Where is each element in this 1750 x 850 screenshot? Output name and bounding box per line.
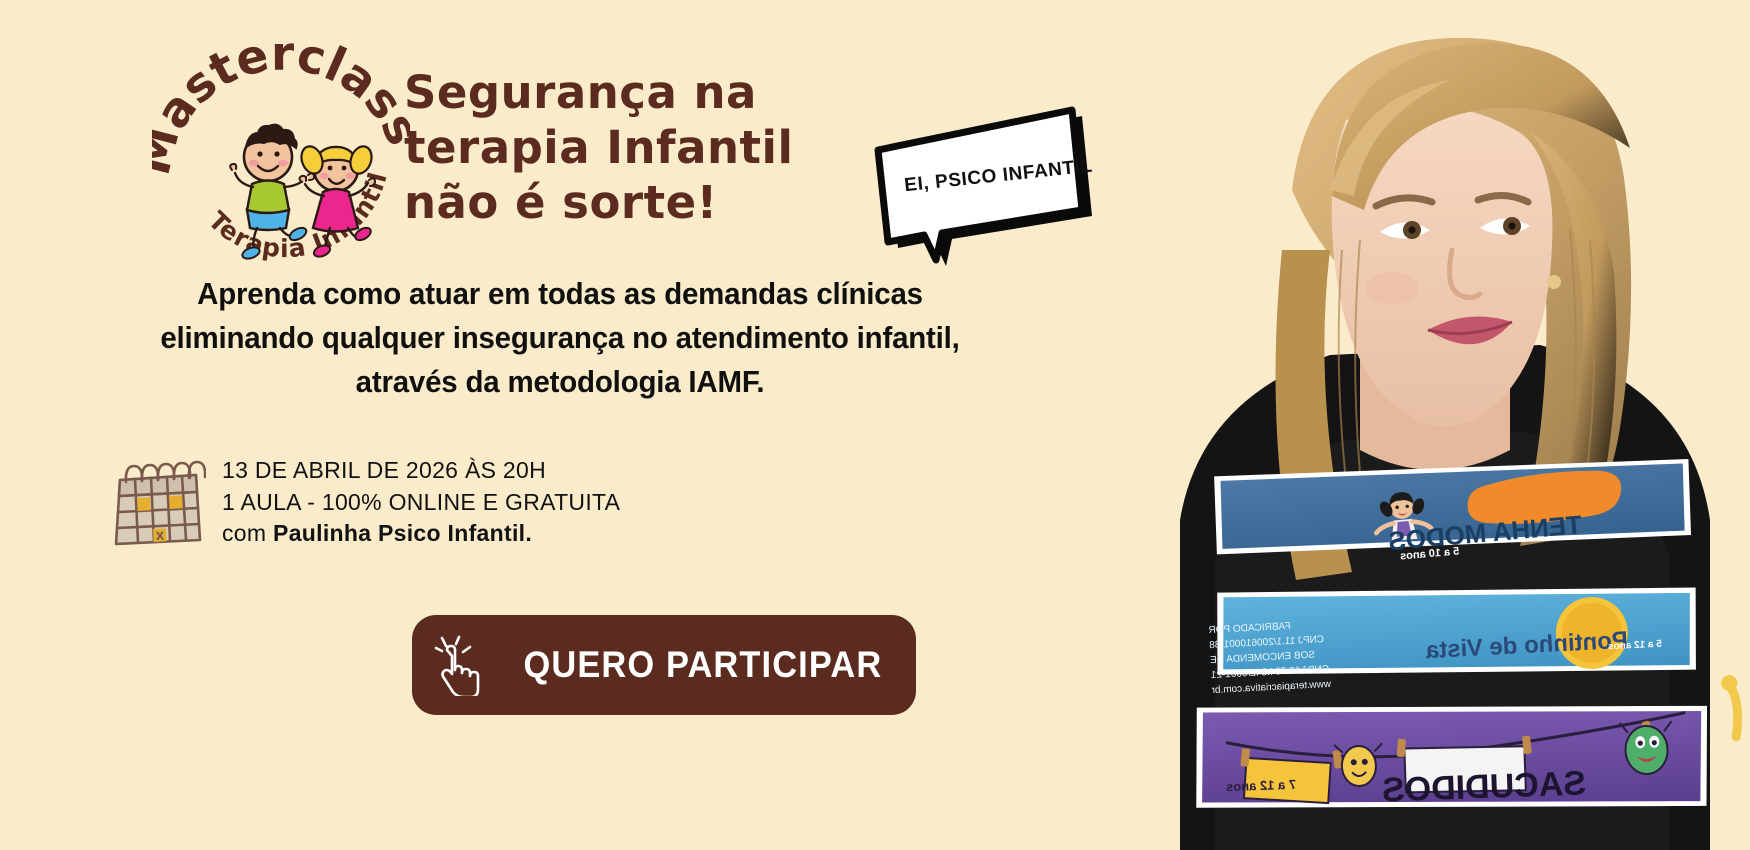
calendar-icon: X <box>108 456 206 548</box>
headline-line-3: não é sorte! <box>404 176 874 231</box>
svg-text:X: X <box>155 530 165 543</box>
subheadline-line-3: através da metodologia IAMF. <box>85 360 1035 404</box>
cta-button-label: QUERO PARTICIPAR <box>524 644 883 686</box>
event-details: X 13 DE ABRIL DE 2026 ÀS 20H 1 AULA - 10… <box>108 455 668 552</box>
masterclass-logo: Masterclass Terapia Infantil <box>152 42 410 274</box>
quero-participar-button[interactable]: QUERO PARTICIPAR <box>412 615 916 715</box>
box-sacudidos-age: 7 a 12 anos <box>1226 777 1297 794</box>
headline-line-2: terapia Infantil <box>404 121 874 176</box>
event-date: 13 DE ABRIL DE 2026 ÀS 20H <box>222 455 620 487</box>
event-host: com Paulinha Psico Infantil. <box>222 518 620 550</box>
headline-line-1: Segurança na <box>404 66 874 121</box>
box-pontinho-fine-print: FABRICADO POR CNPJ 11.1/200610001-88 SOB… <box>1208 617 1331 698</box>
subheadline: Aprenda como atuar em todas as demandas … <box>85 272 1035 404</box>
fine-print-line-1: FABRICADO POR <box>1208 621 1291 636</box>
click-hand-icon <box>432 634 484 696</box>
promo-banner: Masterclass Terapia Infantil <box>0 0 1750 850</box>
event-host-prefix: com <box>222 520 273 546</box>
subheadline-line-1: Aprenda como atuar em todas as demandas … <box>85 272 1035 316</box>
headline: Segurança na terapia Infantil não é sort… <box>404 66 874 231</box>
event-host-name: Paulinha Psico Infantil. <box>273 520 532 546</box>
subheadline-line-2: eliminando qualquer insegurança no atend… <box>85 316 1035 360</box>
box-sacudidos-title: SACUDIDOS <box>1381 764 1586 810</box>
presenter-photo: TENHA MODOS 5 a 10 anos Pontinho de Vist… <box>1060 0 1750 850</box>
event-detail-lines: 13 DE ABRIL DE 2026 ÀS 20H 1 AULA - 100%… <box>222 455 620 552</box>
fine-print-line-4: CNPJ 18.704.342/0001-21 <box>1211 664 1330 681</box>
fine-print-line-3: SOB ENCOMENDA DE <box>1210 650 1315 666</box>
fine-print-line-2: CNPJ 11.1/200610001-88 <box>1209 634 1324 651</box>
event-format: 1 AULA - 100% ONLINE E GRATUITA <box>222 487 620 519</box>
